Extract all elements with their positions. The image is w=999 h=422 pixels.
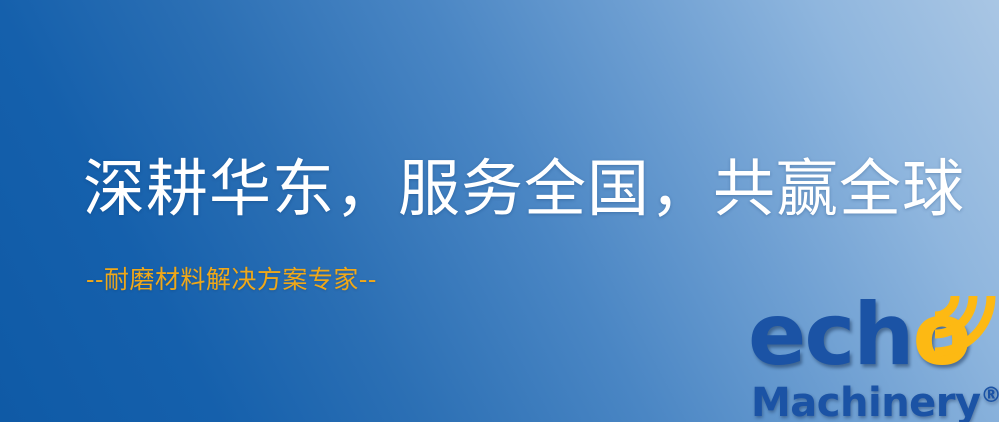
logo-tagline: Machinery® — [751, 374, 999, 422]
logo-wordmark-primary: ech — [748, 285, 913, 385]
registered-trademark-icon: ® — [981, 383, 999, 407]
banner-subtitle: --耐磨材料解决方案专家-- — [86, 263, 377, 297]
logo-tagline-text: Machinery — [751, 380, 981, 422]
signal-arcs-icon — [927, 288, 999, 360]
company-logo: echo Machinery® — [748, 292, 999, 422]
promo-banner: 深耕华东，服务全国，共赢全球 --耐磨材料解决方案专家-- echo Machi… — [0, 0, 999, 422]
banner-headline: 深耕华东，服务全国，共赢全球 — [83, 152, 965, 226]
